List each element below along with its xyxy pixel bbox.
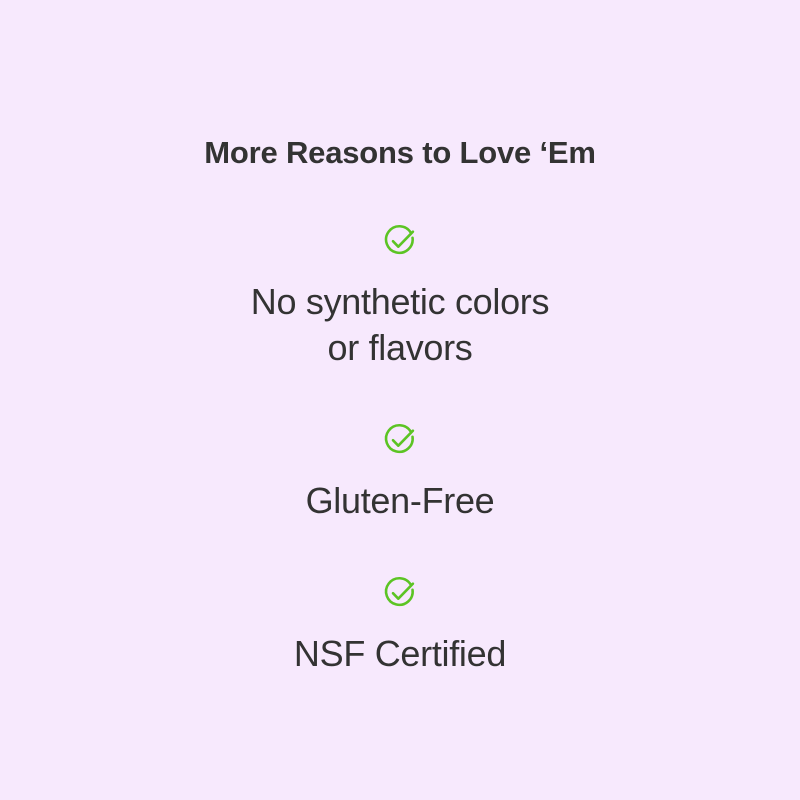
benefits-list: No synthetic colors or flavors Gluten-Fr… xyxy=(0,170,800,677)
list-item: No synthetic colors or flavors xyxy=(0,222,800,371)
check-circle-icon xyxy=(381,222,419,260)
benefit-label: Gluten-Free xyxy=(306,478,495,524)
benefit-label: No synthetic colors or flavors xyxy=(251,279,549,371)
list-item: NSF Certified xyxy=(0,574,800,677)
list-item: Gluten-Free xyxy=(0,421,800,524)
benefit-label: NSF Certified xyxy=(294,631,506,677)
check-circle-icon xyxy=(381,421,419,459)
benefits-panel: More Reasons to Love ‘Em No synthetic co… xyxy=(0,0,800,800)
check-circle-icon xyxy=(381,574,419,612)
page-title: More Reasons to Love ‘Em xyxy=(204,136,595,170)
